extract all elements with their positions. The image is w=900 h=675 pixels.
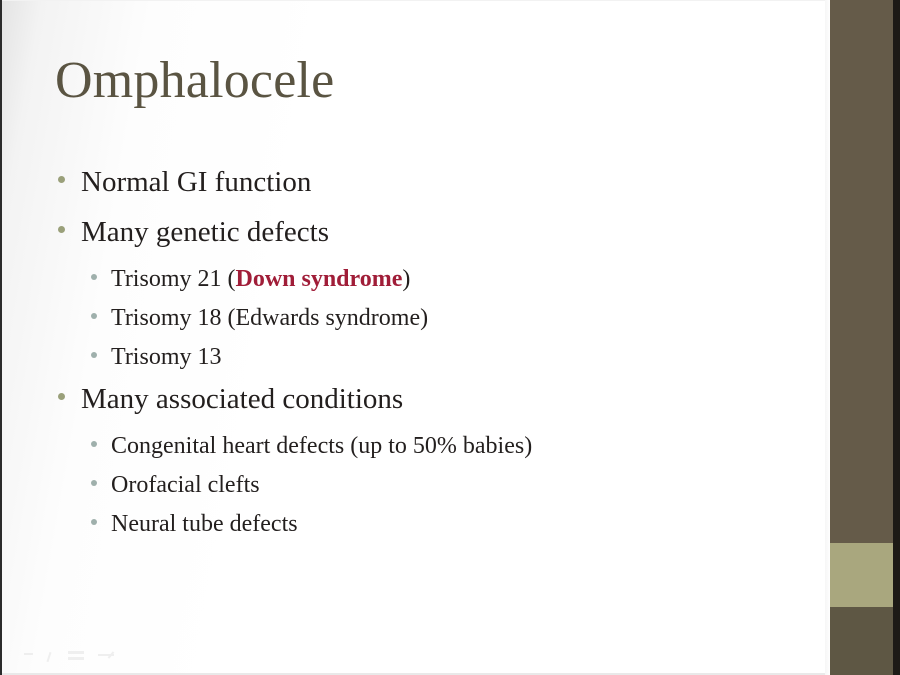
sidebar-segment-lower-brown (830, 607, 893, 675)
bullet-text: Trisomy 13 (111, 338, 798, 377)
bullet-text: Many associated conditions (81, 377, 798, 421)
slide-title: Omphalocele (55, 52, 334, 109)
slide-right-border (893, 0, 900, 675)
bullet-dot-icon (58, 226, 65, 233)
faded-playback-controls (22, 649, 142, 667)
sidebar-segment-upper-brown (830, 0, 893, 543)
bullet-item-level2: Neural tube defects (91, 505, 798, 544)
bullet-dot-icon (58, 393, 65, 400)
bullet-item-level2: Orofacial clefts (91, 466, 798, 505)
ghost-mark-icon (24, 653, 33, 655)
bullet-dot-icon (91, 274, 97, 280)
bullet-item-level2: Trisomy 13 (91, 338, 798, 377)
bullet-text: Orofacial clefts (111, 466, 798, 505)
bullet-dot-icon (58, 176, 65, 183)
bullet-text-suffix: ) (402, 266, 410, 292)
slide-left-border (0, 0, 2, 675)
bullet-item-level1: Many associated conditions (58, 377, 798, 421)
presentation-slide: Omphalocele Normal GI function Many gene… (0, 0, 900, 675)
bullet-dot-icon (91, 480, 97, 486)
slide-body-bullet-list: Normal GI function Many genetic defects … (58, 160, 798, 544)
bullet-item-level2: Trisomy 21 (Down syndrome) (91, 260, 798, 299)
slide-top-edge (0, 0, 900, 1)
bullet-text: Congenital heart defects (up to 50% babi… (111, 427, 798, 466)
bullet-dot-icon (91, 313, 97, 319)
bullet-dot-icon (91, 441, 97, 447)
bullet-text: Many genetic defects (81, 210, 798, 254)
bullet-dot-icon (91, 519, 97, 525)
bullet-item-level1: Normal GI function (58, 160, 798, 204)
ghost-mark-icon (47, 652, 52, 662)
ghost-mark-icon (68, 651, 84, 654)
bullet-item-level1: Many genetic defects (58, 210, 798, 254)
bullet-item-level2: Congenital heart defects (up to 50% babi… (91, 427, 798, 466)
bullet-item-level2: Trisomy 18 (Edwards syndrome) (91, 299, 798, 338)
bullet-dot-icon (91, 352, 97, 358)
decorative-side-bar (830, 0, 893, 675)
ghost-mark-icon (68, 657, 84, 660)
bullet-text: Neural tube defects (111, 505, 798, 544)
bullet-text-prefix: Trisomy 21 ( (111, 266, 235, 292)
sidebar-segment-khaki-accent (830, 543, 893, 607)
bullet-text: Trisomy 21 (Down syndrome) (111, 260, 798, 299)
bullet-text-emphasis: Down syndrome (235, 266, 402, 292)
bullet-text: Trisomy 18 (Edwards syndrome) (111, 299, 798, 338)
bullet-text: Normal GI function (81, 160, 798, 204)
